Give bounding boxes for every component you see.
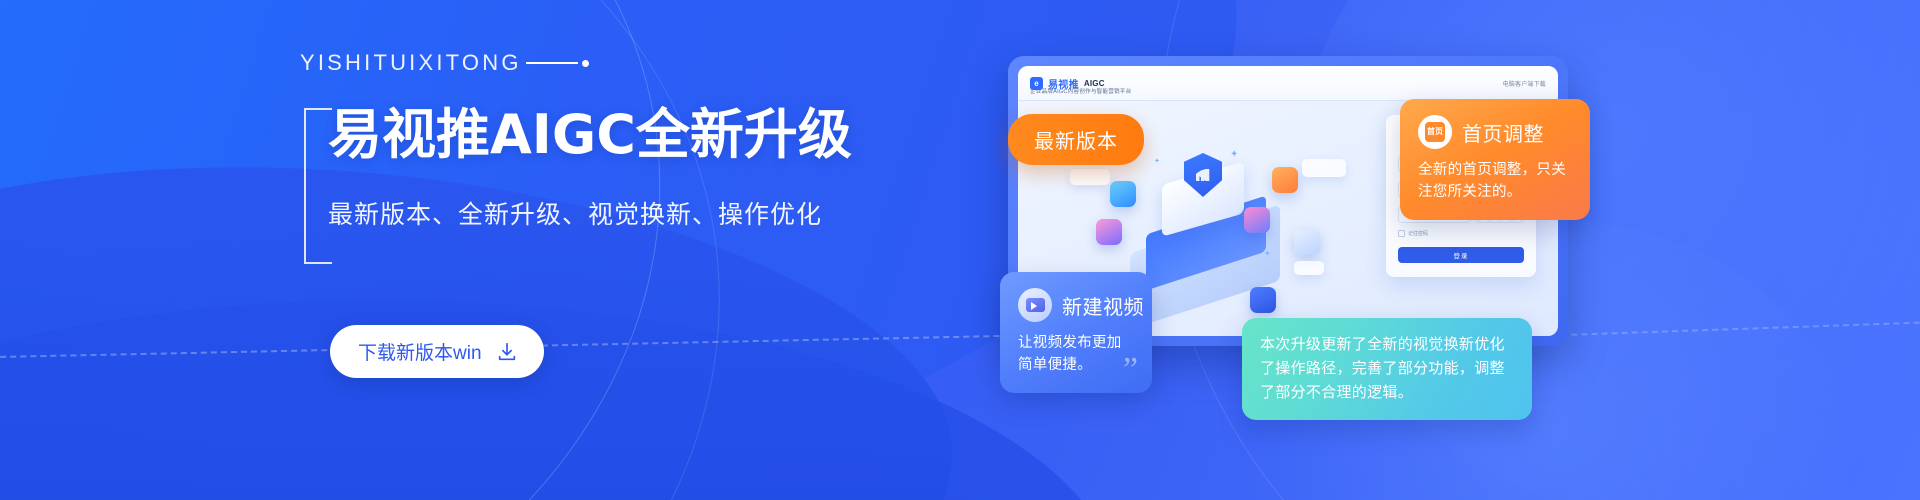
download-button-label: 下载新版本win (358, 338, 482, 365)
eyebrow: YISHITUIXITONG (300, 48, 940, 78)
promo-banner: YISHITUIXITONG 易视推AIGC全新升级 最新版本、全新升级、视觉换… (0, 0, 1920, 500)
illustration-chip (1294, 261, 1324, 275)
illustration-chip (1070, 169, 1110, 185)
card-body: 让视频发布更加简单便捷。 (1018, 332, 1134, 377)
illustration-tile-icon (1272, 167, 1298, 193)
client-download-link[interactable]: 电脑客户端下载 (1503, 79, 1546, 88)
checkbox-icon (1398, 230, 1405, 237)
page-title: 易视推AIGC全新升级 (328, 106, 940, 163)
background-decoration (0, 0, 1920, 500)
remember-password-checkbox[interactable]: 记住密码 (1398, 230, 1524, 237)
download-icon (496, 341, 518, 363)
feature-card-upgrade-note: 本次升级更新了全新的视觉换新优化了操作路径，完善了部分功能，调整了部分不合理的逻… (1242, 318, 1532, 420)
feature-card-home-adjust: 首页 首页调整 全新的首页调整，只关注您所关注的。 (1400, 99, 1590, 220)
video-icon (1018, 288, 1052, 322)
remember-password-label: 记住密码 (1408, 230, 1428, 237)
bracket-decoration (304, 108, 332, 264)
eyebrow-text: YISHITUIXITONG (300, 50, 522, 76)
sparkle-icon: ✦ (1264, 249, 1271, 258)
login-submit-button[interactable]: 登录 (1398, 247, 1524, 263)
app-tagline: 企业品牌AIGC内容创作与智能营销平台 (1030, 87, 1131, 95)
eyebrow-rule (526, 62, 578, 64)
eyebrow-dot (582, 60, 589, 67)
illustration-tile-icon (1250, 287, 1276, 313)
illustration-chip (1302, 159, 1346, 177)
sparkle-icon: ✦ (1230, 149, 1238, 160)
feature-card-new-video: 新建视频 让视频发布更加简单便捷。 ” (1000, 272, 1152, 393)
illustration-tile-icon (1244, 207, 1270, 233)
sparkle-icon: ✦ (1154, 157, 1160, 165)
download-button[interactable]: 下载新版本win (330, 325, 544, 378)
card-title: 首页调整 (1462, 118, 1544, 147)
card-body: 本次升级更新了全新的视觉换新优化了操作路径，完善了部分功能，调整了部分不合理的逻… (1260, 333, 1514, 405)
copy-block: YISHITUIXITONG 易视推AIGC全新升级 最新版本、全新升级、视觉换… (300, 48, 940, 231)
card-body: 全新的首页调整，只关注您所关注的。 (1418, 159, 1572, 204)
app-header: e 易视推 AIGC 电脑客户端下载 企业品牌AIGC内容创作与智能营销平台 (1018, 66, 1558, 101)
illustration-tile-icon (1294, 229, 1320, 255)
home-icon-label: 首页 (1425, 122, 1445, 142)
card-header: 新建视频 (1018, 288, 1134, 322)
card-header: 首页 首页调整 (1418, 115, 1572, 149)
illustration-tile-icon (1096, 219, 1122, 245)
page-subtitle: 最新版本、全新升级、视觉换新、操作优化 (328, 195, 940, 231)
status-badge-new-version: 最新版本 (1008, 114, 1144, 165)
home-badge-icon: 首页 (1418, 115, 1452, 149)
card-title: 新建视频 (1062, 291, 1144, 320)
quote-glyph: ” (1123, 353, 1138, 387)
illustration-tile-icon (1110, 181, 1136, 207)
